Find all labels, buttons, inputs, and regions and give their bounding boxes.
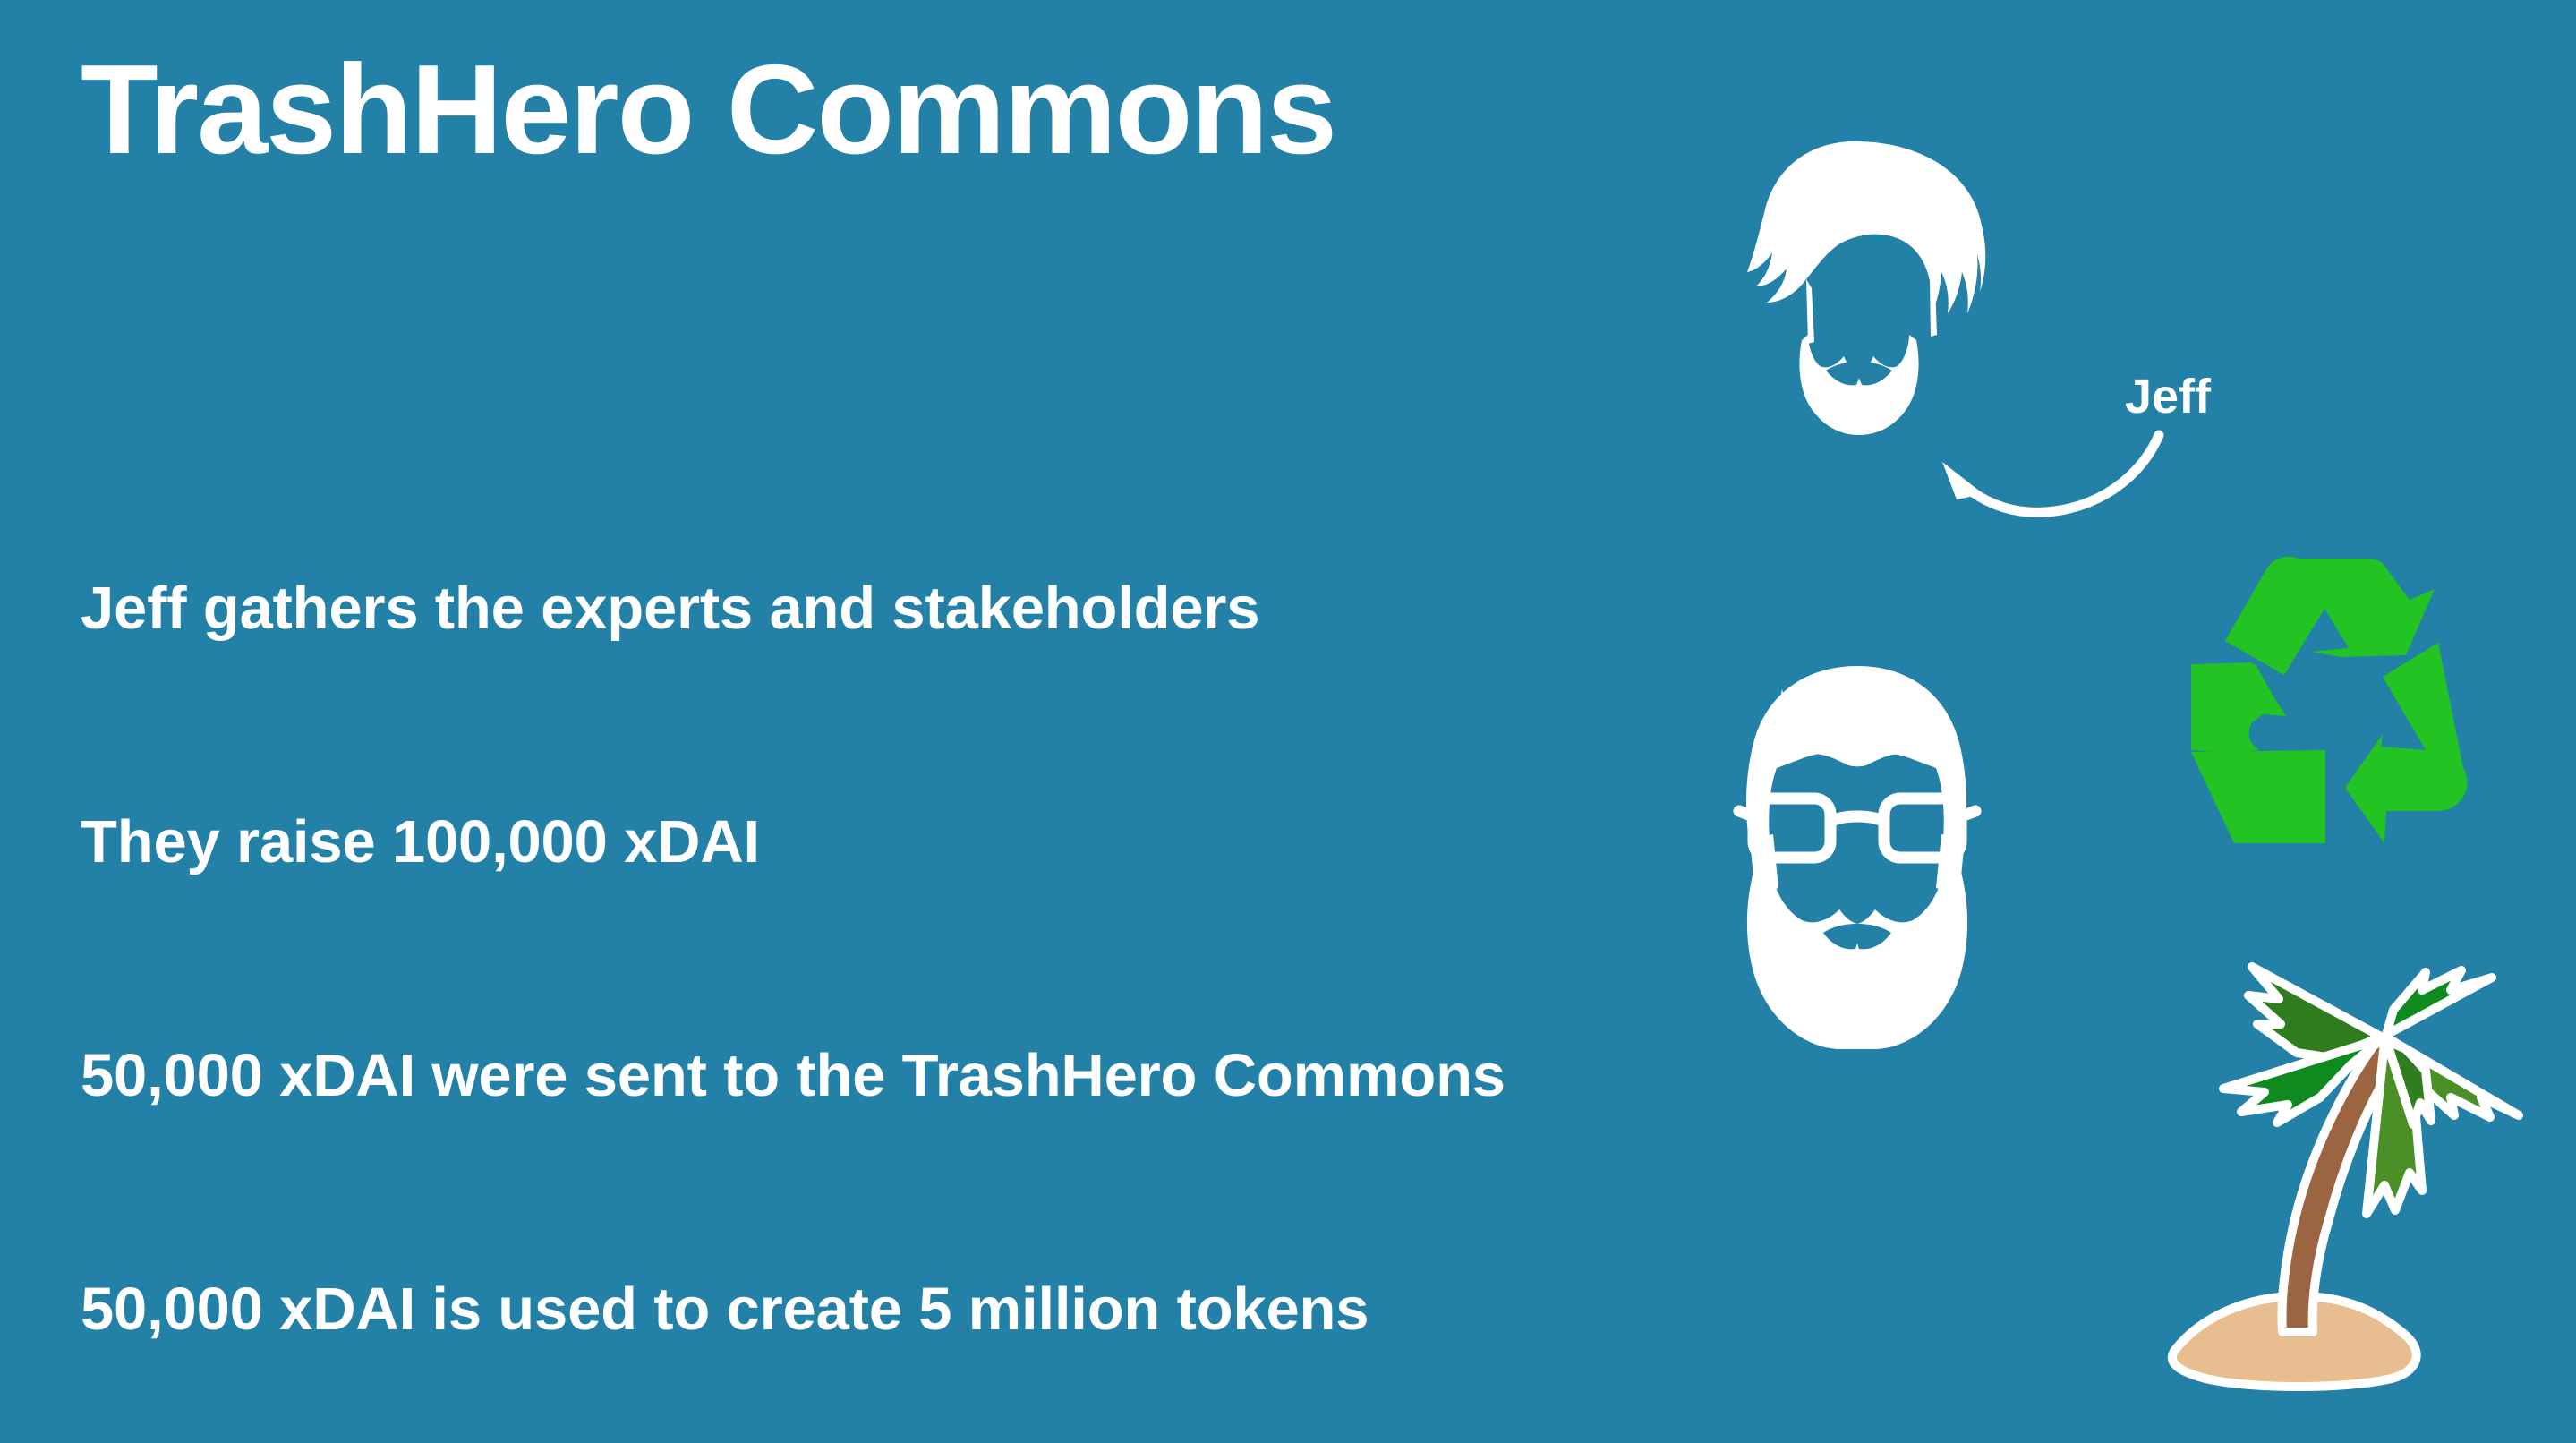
body-line: Jeff gathers the experts and stakeholder… xyxy=(81,569,2336,647)
paragraph-commons-setup: Jeff gathers the experts and stakeholder… xyxy=(81,414,2336,1443)
body-line: They raise 100,000 xDAI xyxy=(81,803,2336,881)
bearded-man-avatar-icon xyxy=(1726,136,1994,467)
body-line: 50,000 xDAI is used to create 5 million … xyxy=(81,1270,2336,1348)
recycle-icon xyxy=(2191,548,2513,843)
jeff-label: Jeff xyxy=(2125,369,2211,424)
palm-tree-island-icon xyxy=(2166,931,2569,1401)
body-line: 50,000 xDAI were sent to the TrashHero C… xyxy=(81,1037,2336,1114)
bearded-man-with-glasses-avatar-icon xyxy=(1723,664,1992,1049)
page-title: TrashHero Commons xyxy=(81,47,1335,174)
curved-arrow-icon xyxy=(1906,426,2166,525)
slide-canvas: TrashHero Commons Jeff gathers the exper… xyxy=(0,0,2576,1443)
